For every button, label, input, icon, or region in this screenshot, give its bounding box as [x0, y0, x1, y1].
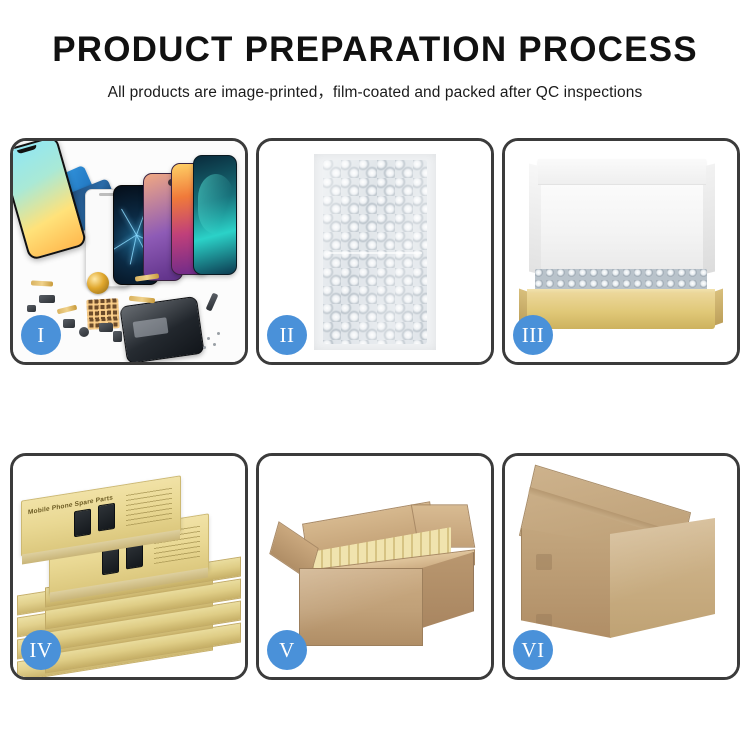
- kraft-box-tray-icon: [527, 293, 715, 329]
- step-card-2: II: [256, 138, 494, 365]
- phone-teal-icon: [193, 155, 237, 275]
- step-badge-6: VI: [513, 630, 553, 670]
- connector-part-icon: [39, 295, 55, 303]
- carton-body-icon: [299, 568, 423, 646]
- connector-part-icon: [63, 319, 75, 328]
- page-subtitle: All products are image-printed，film-coat…: [0, 80, 750, 102]
- bubble-wrap-pouch-icon: [314, 154, 436, 350]
- step-badge-3: III: [513, 315, 553, 355]
- step-card-4: Mobile Phone Spare Parts Mobile Phone Sp…: [10, 453, 248, 680]
- connector-part-icon: [27, 305, 36, 312]
- camera-module-part-icon: [113, 331, 122, 342]
- step-badge-5: V: [267, 630, 307, 670]
- step-card-6: VI: [502, 453, 740, 680]
- step-badge-4: IV: [21, 630, 61, 670]
- phone-back-housing-icon: [119, 296, 204, 362]
- box-lid-fold-icon: [538, 159, 706, 185]
- step-1-illustration: I: [13, 141, 245, 362]
- flex-cable-part-icon: [31, 280, 53, 286]
- step-6-illustration: VI: [505, 456, 737, 677]
- step-4-illustration: Mobile Phone Spare Parts Mobile Phone Sp…: [13, 456, 245, 677]
- step-card-5: V: [256, 453, 494, 680]
- step-badge-1: I: [21, 315, 61, 355]
- step-2-illustration: II: [259, 141, 491, 362]
- wireless-coil-part-icon: [87, 272, 109, 294]
- step-5-illustration: V: [259, 456, 491, 677]
- carton-face-right-icon: [610, 518, 715, 638]
- speaker-part-icon: [79, 327, 89, 337]
- connector-part-icon: [99, 323, 113, 332]
- step-card-3: III: [502, 138, 740, 365]
- carton-face-left-icon: [521, 528, 611, 638]
- step-3-illustration: III: [505, 141, 737, 362]
- header: PRODUCT PREPARATION PROCESS All products…: [0, 0, 750, 102]
- flex-cable-part-icon: [57, 305, 78, 315]
- product-preparation-infographic: PRODUCT PREPARATION PROCESS All products…: [0, 0, 750, 750]
- flex-cable-part-icon: [129, 296, 155, 304]
- process-steps-grid: I II III: [10, 138, 740, 680]
- step-badge-2: II: [267, 315, 307, 355]
- page-title: PRODUCT PREPARATION PROCESS: [0, 32, 750, 69]
- screwdriver-part-icon: [206, 293, 219, 312]
- step-card-1: I: [10, 138, 248, 365]
